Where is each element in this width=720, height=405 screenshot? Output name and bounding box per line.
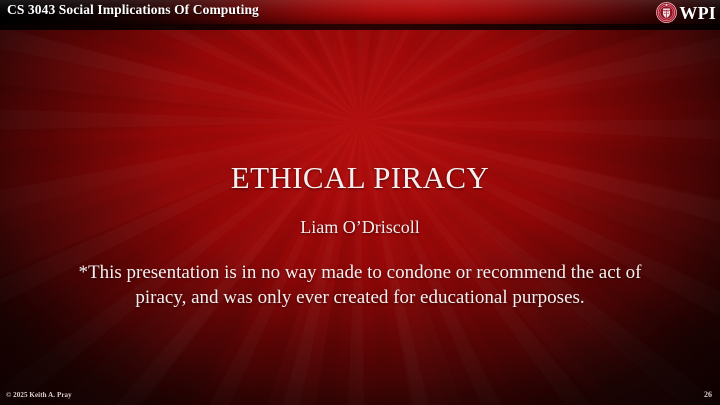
page-number: 26 [704,390,712,399]
presentation-slide: CS 3043 Social Implications Of Computing… [0,0,720,405]
slide-content: ETHICAL PIRACY Liam O’Driscoll *This pre… [0,0,720,405]
header-underline-divider [0,24,720,30]
wpi-logo: WPI [656,1,716,24]
slide-disclaimer-text: *This presentation is in no way made to … [78,260,642,310]
course-title: CS 3043 Social Implications Of Computing [7,2,259,18]
wpi-wordmark: WPI [679,4,716,22]
copyright-notice: © 2025 Keith A. Pray [6,391,72,399]
slide-title: ETHICAL PIRACY [0,160,720,196]
slide-author: Liam O’Driscoll [0,217,720,238]
wpi-seal-icon [656,2,677,23]
